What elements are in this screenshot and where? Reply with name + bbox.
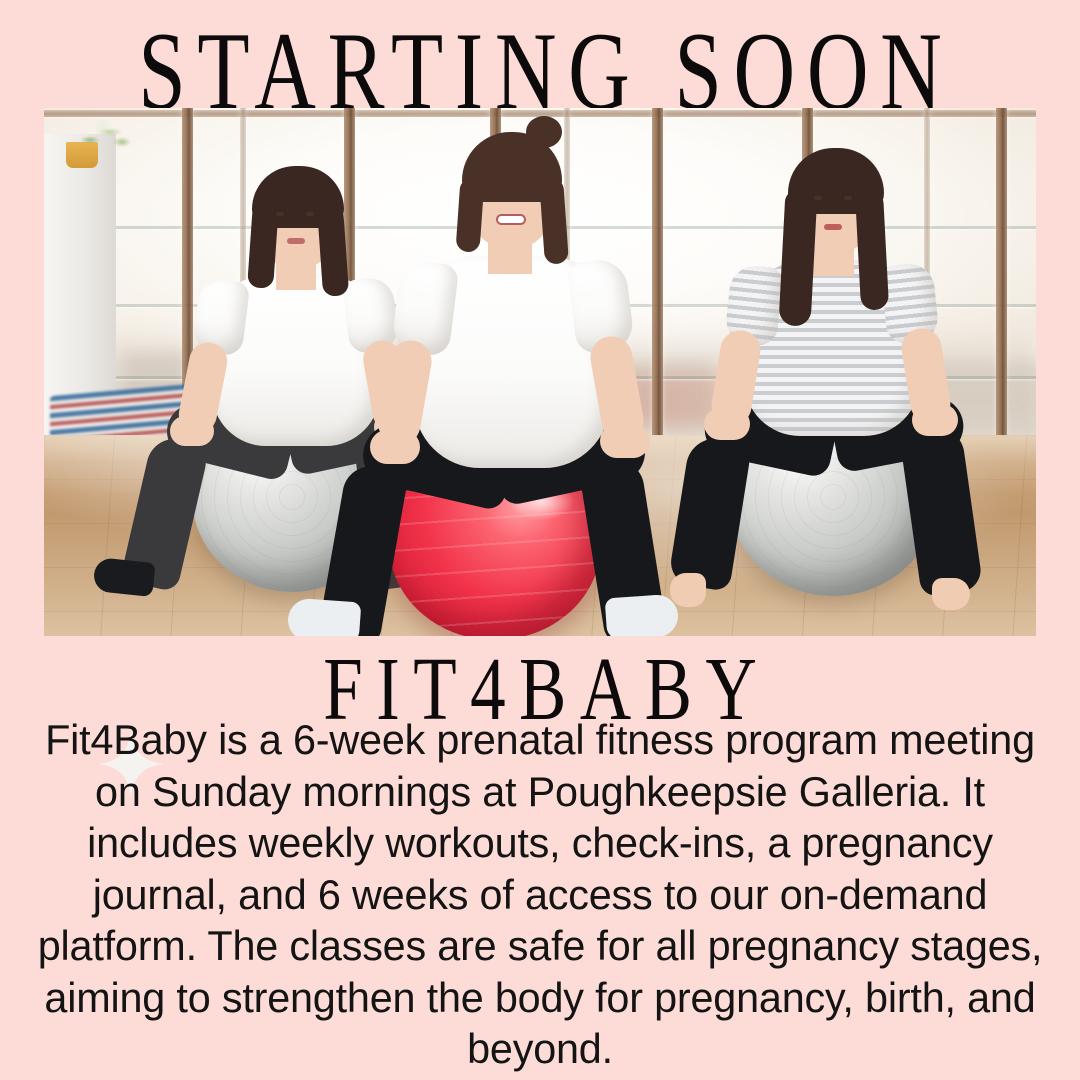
hand-right <box>600 424 650 458</box>
plant-leaves <box>76 120 134 150</box>
mouth <box>287 238 305 244</box>
sock-right <box>605 594 680 636</box>
hair-side-left <box>455 177 484 252</box>
program-description: Fit4Baby is a 6-week prenatal fitness pr… <box>18 714 1062 1075</box>
gym-scene <box>44 108 1036 636</box>
hand-left <box>370 430 420 464</box>
hero-photo <box>44 108 1036 636</box>
eye-right <box>844 196 852 200</box>
foot-left <box>670 573 706 607</box>
hair-bun <box>526 116 562 148</box>
foot-right <box>932 578 970 610</box>
window-mullion <box>652 108 663 478</box>
eye-left <box>276 212 284 216</box>
eye-left <box>487 186 496 190</box>
eye-left <box>814 196 822 200</box>
plant-pot <box>66 142 98 168</box>
window-mullion <box>996 108 1007 478</box>
sock-left <box>287 598 362 636</box>
poster-canvas: STARTING SOON <box>0 0 1080 1080</box>
hand-left <box>170 416 214 446</box>
eye-right <box>522 186 531 190</box>
eye-right <box>306 212 314 216</box>
hand-left <box>704 408 750 440</box>
mouth <box>824 224 842 230</box>
smile-mouth <box>496 214 526 225</box>
hand-right <box>912 404 958 436</box>
